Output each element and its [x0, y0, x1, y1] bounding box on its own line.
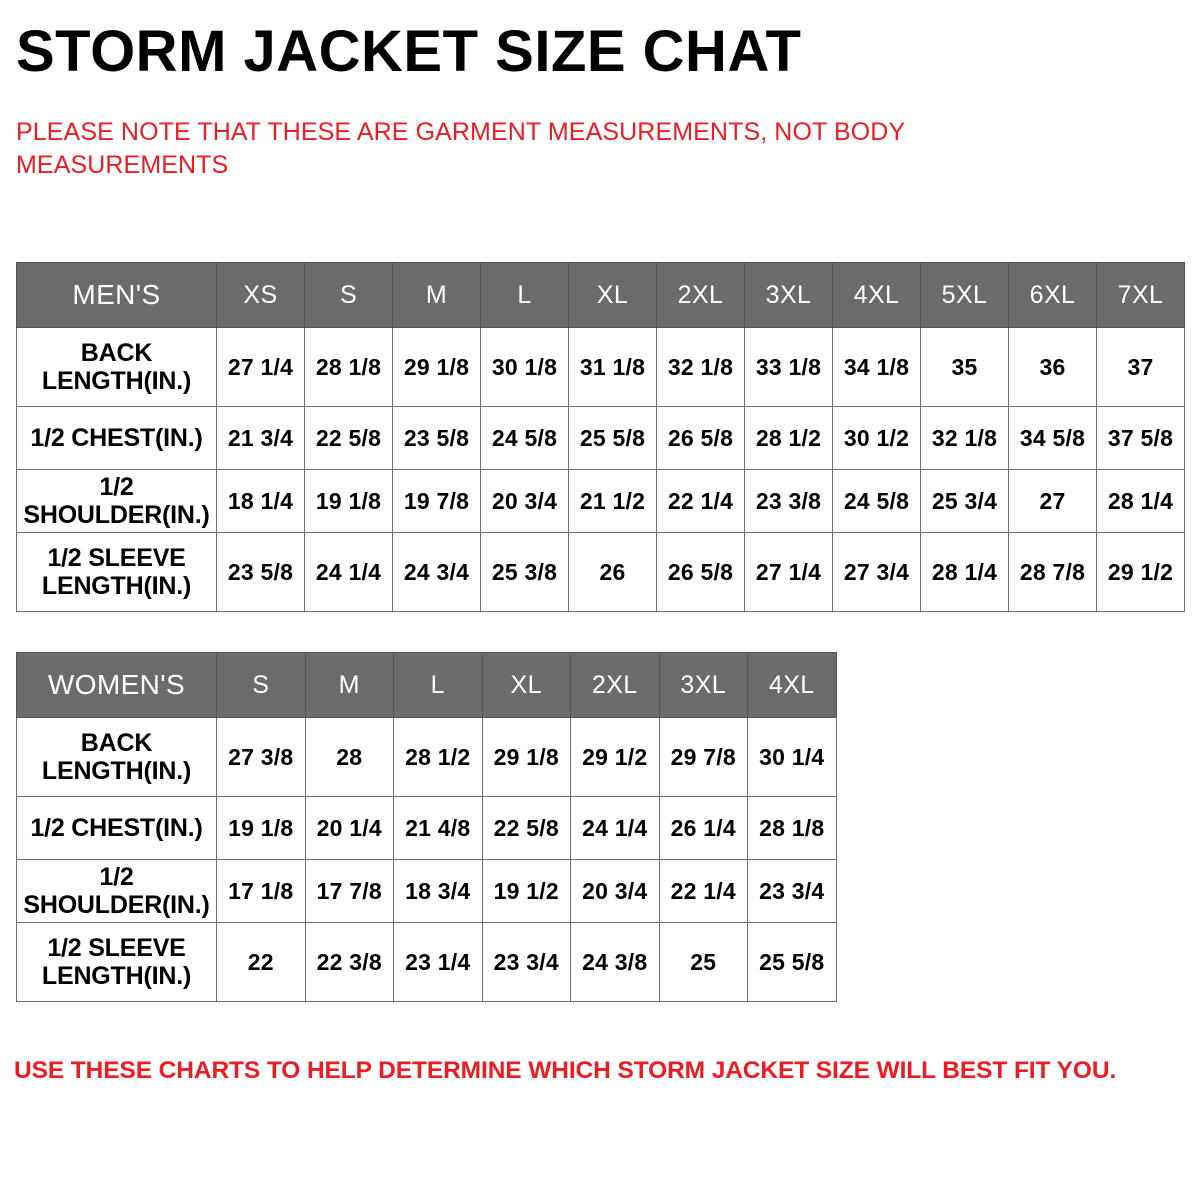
womens-corner-label: WOMEN'S	[17, 653, 217, 718]
table-cell: 24 3/4	[393, 533, 481, 612]
mens-col-header-5xl: 5XL	[921, 263, 1009, 328]
mens-col-header-4xl: 4XL	[833, 263, 921, 328]
womens-col-header-xl: XL	[482, 653, 571, 718]
mens-row-label-sleeve-length: 1/2 SLEEVE LENGTH(IN.)	[17, 533, 217, 612]
table-cell: 21 3/4	[217, 407, 305, 470]
table-cell: 27 1/4	[745, 533, 833, 612]
table-cell: 17 1/8	[217, 860, 306, 923]
table-cell: 26 1/4	[659, 797, 748, 860]
mens-header-row: MEN'S XS S M L XL 2XL 3XL 4XL 5XL 6XL 7X…	[17, 263, 1185, 328]
table-cell: 30 1/2	[833, 407, 921, 470]
mens-col-header-m: M	[393, 263, 481, 328]
table-cell: 28 1/4	[921, 533, 1009, 612]
table-cell: 21 1/2	[569, 470, 657, 533]
womens-col-header-4xl: 4XL	[748, 653, 837, 718]
table-row: 1/2 SHOULDER(IN.) 17 1/8 17 7/8 18 3/4 1…	[17, 860, 837, 923]
table-cell: 25 3/8	[481, 533, 569, 612]
table-cell: 29 1/2	[571, 718, 660, 797]
table-cell: 22 5/8	[482, 797, 571, 860]
womens-header-row: WOMEN'S S M L XL 2XL 3XL 4XL	[17, 653, 837, 718]
table-cell: 22 1/4	[659, 860, 748, 923]
table-cell: 23 5/8	[393, 407, 481, 470]
table-cell: 22 5/8	[305, 407, 393, 470]
mens-col-header-s: S	[305, 263, 393, 328]
table-cell: 25	[659, 923, 748, 1002]
help-determine-size-note: USE THESE CHARTS TO HELP DETERMINE WHICH…	[14, 1055, 1184, 1087]
table-cell: 20 3/4	[481, 470, 569, 533]
table-cell: 29 1/8	[393, 328, 481, 407]
mens-corner-label: MEN'S	[17, 263, 217, 328]
table-cell: 22 3/8	[305, 923, 394, 1002]
mens-col-header-3xl: 3XL	[745, 263, 833, 328]
table-row: 1/2 SLEEVE LENGTH(IN.) 23 5/8 24 1/4 24 …	[17, 533, 1185, 612]
womens-table-head: WOMEN'S S M L XL 2XL 3XL 4XL	[17, 653, 837, 718]
table-cell: 29 7/8	[659, 718, 748, 797]
mens-row-label-chest: 1/2 CHEST(IN.)	[17, 407, 217, 470]
size-chart-page: STORM JACKET SIZE CHAT PLEASE NOTE THAT …	[0, 0, 1200, 1200]
table-cell: 27	[1009, 470, 1097, 533]
table-cell: 33 1/8	[745, 328, 833, 407]
table-cell: 23 5/8	[217, 533, 305, 612]
table-cell: 25 3/4	[921, 470, 1009, 533]
table-cell: 29 1/8	[482, 718, 571, 797]
table-cell: 32 1/8	[657, 328, 745, 407]
table-cell: 19 1/2	[482, 860, 571, 923]
table-cell: 37 5/8	[1097, 407, 1185, 470]
table-cell: 34 5/8	[1009, 407, 1097, 470]
table-cell: 28 1/8	[305, 328, 393, 407]
table-row: BACK LENGTH(IN.) 27 3/8 28 28 1/2 29 1/8…	[17, 718, 837, 797]
table-row: 1/2 SHOULDER(IN.) 18 1/4 19 1/8 19 7/8 2…	[17, 470, 1185, 533]
table-cell: 18 1/4	[217, 470, 305, 533]
table-cell: 26 5/8	[657, 407, 745, 470]
table-row: 1/2 CHEST(IN.) 21 3/4 22 5/8 23 5/8 24 5…	[17, 407, 1185, 470]
table-cell: 20 1/4	[305, 797, 394, 860]
table-cell: 24 5/8	[833, 470, 921, 533]
table-cell: 24 3/8	[571, 923, 660, 1002]
table-cell: 24 1/4	[305, 533, 393, 612]
womens-col-header-s: S	[217, 653, 306, 718]
table-cell: 24 5/8	[481, 407, 569, 470]
table-cell: 28 7/8	[1009, 533, 1097, 612]
table-cell: 28 1/4	[1097, 470, 1185, 533]
womens-col-header-3xl: 3XL	[659, 653, 748, 718]
mens-col-header-xs: XS	[217, 263, 305, 328]
table-cell: 23 3/8	[745, 470, 833, 533]
table-cell: 30 1/8	[481, 328, 569, 407]
mens-col-header-6xl: 6XL	[1009, 263, 1097, 328]
mens-row-label-shoulder: 1/2 SHOULDER(IN.)	[17, 470, 217, 533]
table-cell: 34 1/8	[833, 328, 921, 407]
mens-size-table: MEN'S XS S M L XL 2XL 3XL 4XL 5XL 6XL 7X…	[16, 262, 1185, 612]
table-cell: 28	[305, 718, 394, 797]
page-title: STORM JACKET SIZE CHAT	[16, 22, 801, 83]
womens-col-header-2xl: 2XL	[571, 653, 660, 718]
table-cell: 31 1/8	[569, 328, 657, 407]
table-cell: 32 1/8	[921, 407, 1009, 470]
table-row: 1/2 CHEST(IN.) 19 1/8 20 1/4 21 4/8 22 5…	[17, 797, 837, 860]
table-cell: 18 3/4	[394, 860, 483, 923]
mens-table-head: MEN'S XS S M L XL 2XL 3XL 4XL 5XL 6XL 7X…	[17, 263, 1185, 328]
table-cell: 27 3/8	[217, 718, 306, 797]
table-cell: 22	[217, 923, 306, 1002]
table-cell: 24 1/4	[571, 797, 660, 860]
table-cell: 22 1/4	[657, 470, 745, 533]
garment-measurement-note: PLEASE NOTE THAT THESE ARE GARMENT MEASU…	[16, 116, 976, 182]
mens-row-label-back-length: BACK LENGTH(IN.)	[17, 328, 217, 407]
table-cell: 19 1/8	[217, 797, 306, 860]
table-cell: 23 3/4	[482, 923, 571, 1002]
table-cell: 36	[1009, 328, 1097, 407]
table-cell: 37	[1097, 328, 1185, 407]
mens-col-header-2xl: 2XL	[657, 263, 745, 328]
table-cell: 30 1/4	[748, 718, 837, 797]
table-cell: 27 1/4	[217, 328, 305, 407]
table-cell: 27 3/4	[833, 533, 921, 612]
womens-col-header-m: M	[305, 653, 394, 718]
table-cell: 19 7/8	[393, 470, 481, 533]
womens-col-header-l: L	[394, 653, 483, 718]
table-row: BACK LENGTH(IN.) 27 1/4 28 1/8 29 1/8 30…	[17, 328, 1185, 407]
mens-table-body: BACK LENGTH(IN.) 27 1/4 28 1/8 29 1/8 30…	[17, 328, 1185, 612]
table-cell: 25 5/8	[569, 407, 657, 470]
table-cell: 17 7/8	[305, 860, 394, 923]
table-cell: 26	[569, 533, 657, 612]
table-cell: 35	[921, 328, 1009, 407]
womens-row-label-sleeve-length: 1/2 SLEEVE LENGTH(IN.)	[17, 923, 217, 1002]
table-cell: 23 1/4	[394, 923, 483, 1002]
table-cell: 25 5/8	[748, 923, 837, 1002]
table-row: 1/2 SLEEVE LENGTH(IN.) 22 22 3/8 23 1/4 …	[17, 923, 837, 1002]
womens-row-label-back-length: BACK LENGTH(IN.)	[17, 718, 217, 797]
table-cell: 23 3/4	[748, 860, 837, 923]
womens-table-body: BACK LENGTH(IN.) 27 3/8 28 28 1/2 29 1/8…	[17, 718, 837, 1002]
table-cell: 28 1/8	[748, 797, 837, 860]
table-cell: 19 1/8	[305, 470, 393, 533]
womens-row-label-shoulder: 1/2 SHOULDER(IN.)	[17, 860, 217, 923]
womens-size-table: WOMEN'S S M L XL 2XL 3XL 4XL BACK LENGTH…	[16, 652, 837, 1002]
table-cell: 20 3/4	[571, 860, 660, 923]
womens-row-label-chest: 1/2 CHEST(IN.)	[17, 797, 217, 860]
table-cell: 29 1/2	[1097, 533, 1185, 612]
mens-col-header-l: L	[481, 263, 569, 328]
table-cell: 21 4/8	[394, 797, 483, 860]
table-cell: 28 1/2	[745, 407, 833, 470]
table-cell: 26 5/8	[657, 533, 745, 612]
mens-col-header-xl: XL	[569, 263, 657, 328]
table-cell: 28 1/2	[394, 718, 483, 797]
mens-col-header-7xl: 7XL	[1097, 263, 1185, 328]
